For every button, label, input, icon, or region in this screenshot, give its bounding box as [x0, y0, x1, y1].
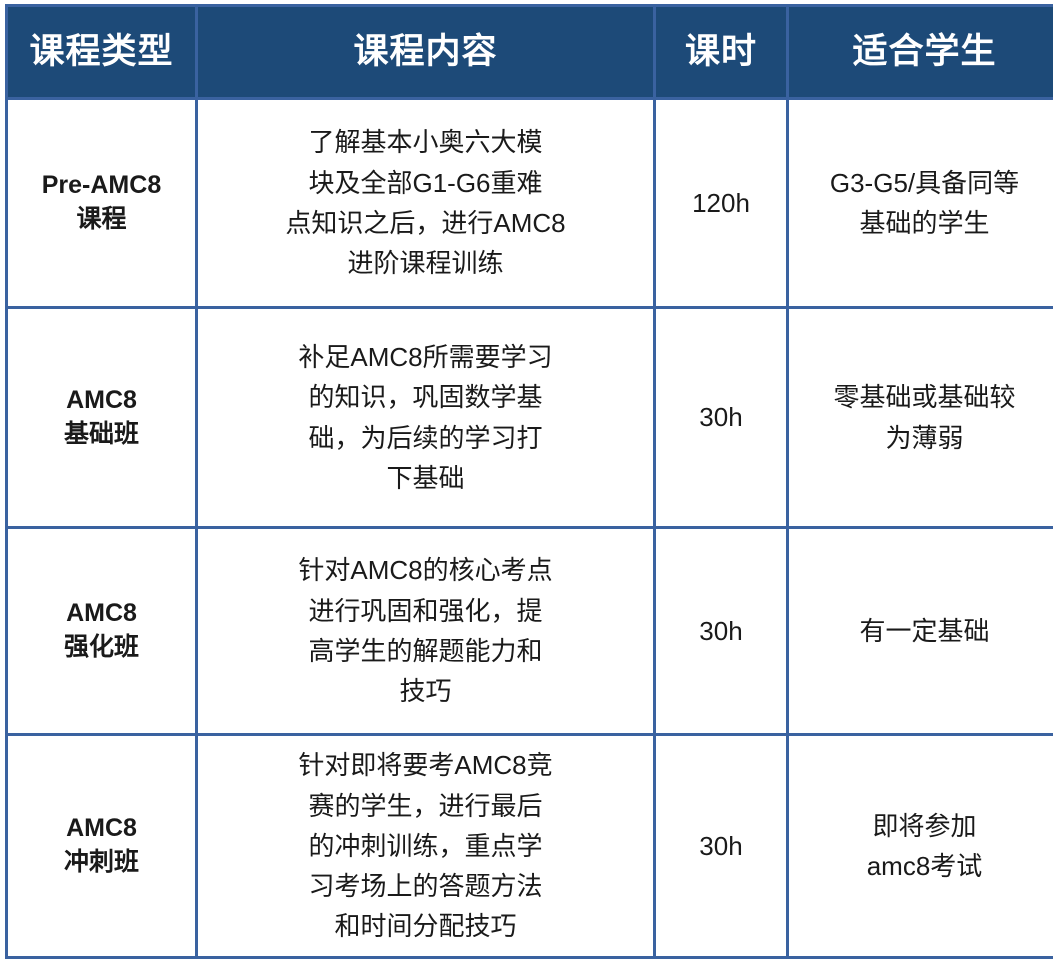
course-type-line: AMC8 — [8, 597, 195, 631]
cell-course-type: Pre-AMC8课程 — [7, 99, 197, 308]
column-header-course-content: 课程内容 — [197, 6, 655, 99]
table-row: AMC8强化班针对AMC8的核心考点进行巩固和强化，提高学生的解题能力和技巧30… — [7, 528, 1053, 735]
column-header-course-hours: 课时 — [655, 6, 788, 99]
cell-course-hours: 30h — [655, 735, 788, 958]
course-content-line: 补足AMC8所需要学习 — [198, 337, 653, 377]
table-row: AMC8基础班补足AMC8所需要学习的知识，巩固数学基础，为后续的学习打下基础3… — [7, 308, 1053, 528]
cell-course-type: AMC8强化班 — [7, 528, 197, 735]
course-content-line: 的冲刺训练，重点学 — [198, 826, 653, 866]
course-type-line: 冲刺班 — [8, 846, 195, 880]
table-row: AMC8冲刺班针对即将要考AMC8竞赛的学生，进行最后的冲刺训练，重点学习考场上… — [7, 735, 1053, 958]
course-content-line: 的知识，巩固数学基 — [198, 377, 653, 417]
course-content-line: 习考场上的答题方法 — [198, 866, 653, 906]
course-content-line: 技巧 — [198, 671, 653, 711]
course-type-line: Pre-AMC8 — [8, 169, 195, 203]
cell-target-student: 即将参加amc8考试 — [788, 735, 1053, 958]
course-content-line: 点知识之后，进行AMC8 — [198, 203, 653, 243]
course-type-line: 基础班 — [8, 418, 195, 452]
target-student-line: 即将参加 — [789, 806, 1053, 846]
course-content-line: 进行巩固和强化，提 — [198, 591, 653, 631]
course-type-line: AMC8 — [8, 384, 195, 418]
cell-course-type: AMC8冲刺班 — [7, 735, 197, 958]
cell-target-student: 有一定基础 — [788, 528, 1053, 735]
cell-target-student: 零基础或基础较为薄弱 — [788, 308, 1053, 528]
cell-target-student: G3-G5/具备同等基础的学生 — [788, 99, 1053, 308]
table-row: Pre-AMC8课程了解基本小奥六大模块及全部G1-G6重难点知识之后，进行AM… — [7, 99, 1053, 308]
table-header: 课程类型 课程内容 课时 适合学生 — [7, 6, 1053, 99]
header-row: 课程类型 课程内容 课时 适合学生 — [7, 6, 1053, 99]
cell-course-type: AMC8基础班 — [7, 308, 197, 528]
course-content-line: 和时间分配技巧 — [198, 906, 653, 946]
course-type-line: 强化班 — [8, 631, 195, 665]
course-content-line: 赛的学生，进行最后 — [198, 786, 653, 826]
course-content-line: 下基础 — [198, 458, 653, 498]
target-student-line: G3-G5/具备同等 — [789, 163, 1053, 203]
cell-course-content: 了解基本小奥六大模块及全部G1-G6重难点知识之后，进行AMC8进阶课程训练 — [197, 99, 655, 308]
target-student-line: 有一定基础 — [789, 611, 1053, 651]
course-content-line: 础，为后续的学习打 — [198, 418, 653, 458]
course-table-container: 课程类型 课程内容 课时 适合学生 Pre-AMC8课程了解基本小奥六大模块及全… — [0, 0, 1053, 946]
course-type-line: 课程 — [8, 203, 195, 237]
course-content-line: 了解基本小奥六大模 — [198, 122, 653, 162]
target-student-line: 为薄弱 — [789, 418, 1053, 458]
cell-course-content: 针对AMC8的核心考点进行巩固和强化，提高学生的解题能力和技巧 — [197, 528, 655, 735]
cell-course-hours: 30h — [655, 528, 788, 735]
course-comparison-table: 课程类型 课程内容 课时 适合学生 Pre-AMC8课程了解基本小奥六大模块及全… — [5, 4, 1053, 959]
column-header-target-student: 适合学生 — [788, 6, 1053, 99]
course-type-line: AMC8 — [8, 812, 195, 846]
course-content-line: 块及全部G1-G6重难 — [198, 163, 653, 203]
cell-course-hours: 30h — [655, 308, 788, 528]
course-content-line: 进阶课程训练 — [198, 243, 653, 283]
course-content-line: 高学生的解题能力和 — [198, 631, 653, 671]
course-content-line: 针对AMC8的核心考点 — [198, 550, 653, 590]
cell-course-hours: 120h — [655, 99, 788, 308]
cell-course-content: 针对即将要考AMC8竞赛的学生，进行最后的冲刺训练，重点学习考场上的答题方法和时… — [197, 735, 655, 958]
cell-course-content: 补足AMC8所需要学习的知识，巩固数学基础，为后续的学习打下基础 — [197, 308, 655, 528]
column-header-course-type: 课程类型 — [7, 6, 197, 99]
target-student-line: 基础的学生 — [789, 203, 1053, 243]
target-student-line: 零基础或基础较 — [789, 377, 1053, 417]
course-content-line: 针对即将要考AMC8竞 — [198, 745, 653, 785]
target-student-line: amc8考试 — [789, 846, 1053, 886]
table-body: Pre-AMC8课程了解基本小奥六大模块及全部G1-G6重难点知识之后，进行AM… — [7, 99, 1053, 958]
